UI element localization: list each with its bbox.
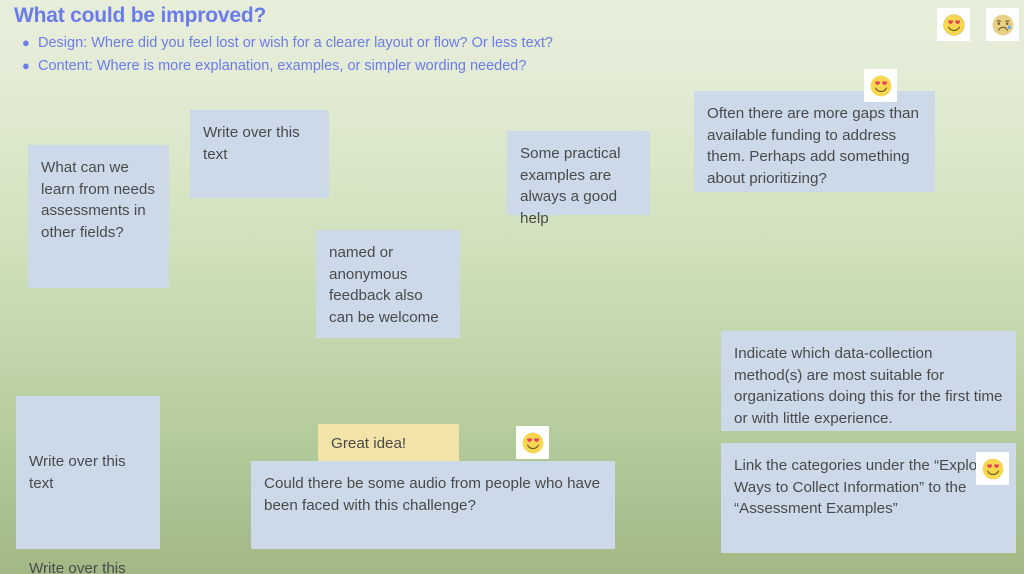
sticky-note-named-or-anonymous[interactable]: named or anonymous feedback also can be … [316, 230, 460, 338]
reaction-chip-link-heart-eyes[interactable] [976, 452, 1009, 485]
sticky-note-audio-from-people[interactable]: Could there be some audio from people wh… [251, 461, 615, 549]
bullet-item-design-label: Design: Where did you feel lost or wish … [38, 33, 553, 53]
bullet-item-design: ● Design: Where did you feel lost or wis… [20, 33, 720, 53]
bullet-list: ● Design: Where did you feel lost or wis… [20, 33, 720, 79]
sticky-note-data-collection-method[interactable]: Indicate which data-collection method(s)… [721, 331, 1016, 431]
page-title: What could be improved? [14, 4, 266, 28]
sticky-note-paragraph: Write over this text [29, 558, 147, 574]
reaction-chip-audio-heart-eyes[interactable] [516, 426, 549, 459]
slide-canvas: What could be improved? ● Design: Where … [0, 0, 1024, 574]
heart-eyes-smiley-icon [521, 431, 545, 455]
reaction-chip-header-heart-eyes[interactable] [937, 8, 970, 41]
bullet-dot-icon: ● [20, 33, 38, 53]
sticky-note-practical-examples[interactable]: Some practical examples are always a goo… [507, 131, 650, 215]
heart-eyes-smiley-icon [942, 13, 966, 37]
sad-face-with-tear-icon [991, 13, 1015, 37]
sticky-note-gaps-funding[interactable]: Often there are more gaps than available… [694, 91, 935, 192]
reaction-chip-header-sad-tear[interactable] [986, 8, 1019, 41]
sticky-note-great-idea[interactable]: Great idea! [318, 424, 459, 462]
bullet-item-content: ● Content: Where is more explanation, ex… [20, 56, 720, 76]
bullet-item-content-label: Content: Where is more explanation, exam… [38, 56, 526, 76]
sticky-note-paragraph: Write over this text [29, 451, 147, 494]
heart-eyes-smiley-icon [981, 457, 1005, 481]
sticky-note-write-over-this-text-top[interactable]: Write over this text [190, 110, 329, 198]
sticky-note-link-categories[interactable]: Link the categories under the “Explore W… [721, 443, 1016, 553]
sticky-note-write-over-this-text-bottom[interactable]: Write over this text Write over this tex… [16, 396, 160, 549]
reaction-chip-gaps-heart-eyes[interactable] [864, 69, 897, 102]
sticky-note-needs-assessments[interactable]: What can we learn from needs assessments… [28, 145, 169, 288]
bullet-dot-icon: ● [20, 56, 38, 76]
heart-eyes-smiley-icon [869, 74, 893, 98]
